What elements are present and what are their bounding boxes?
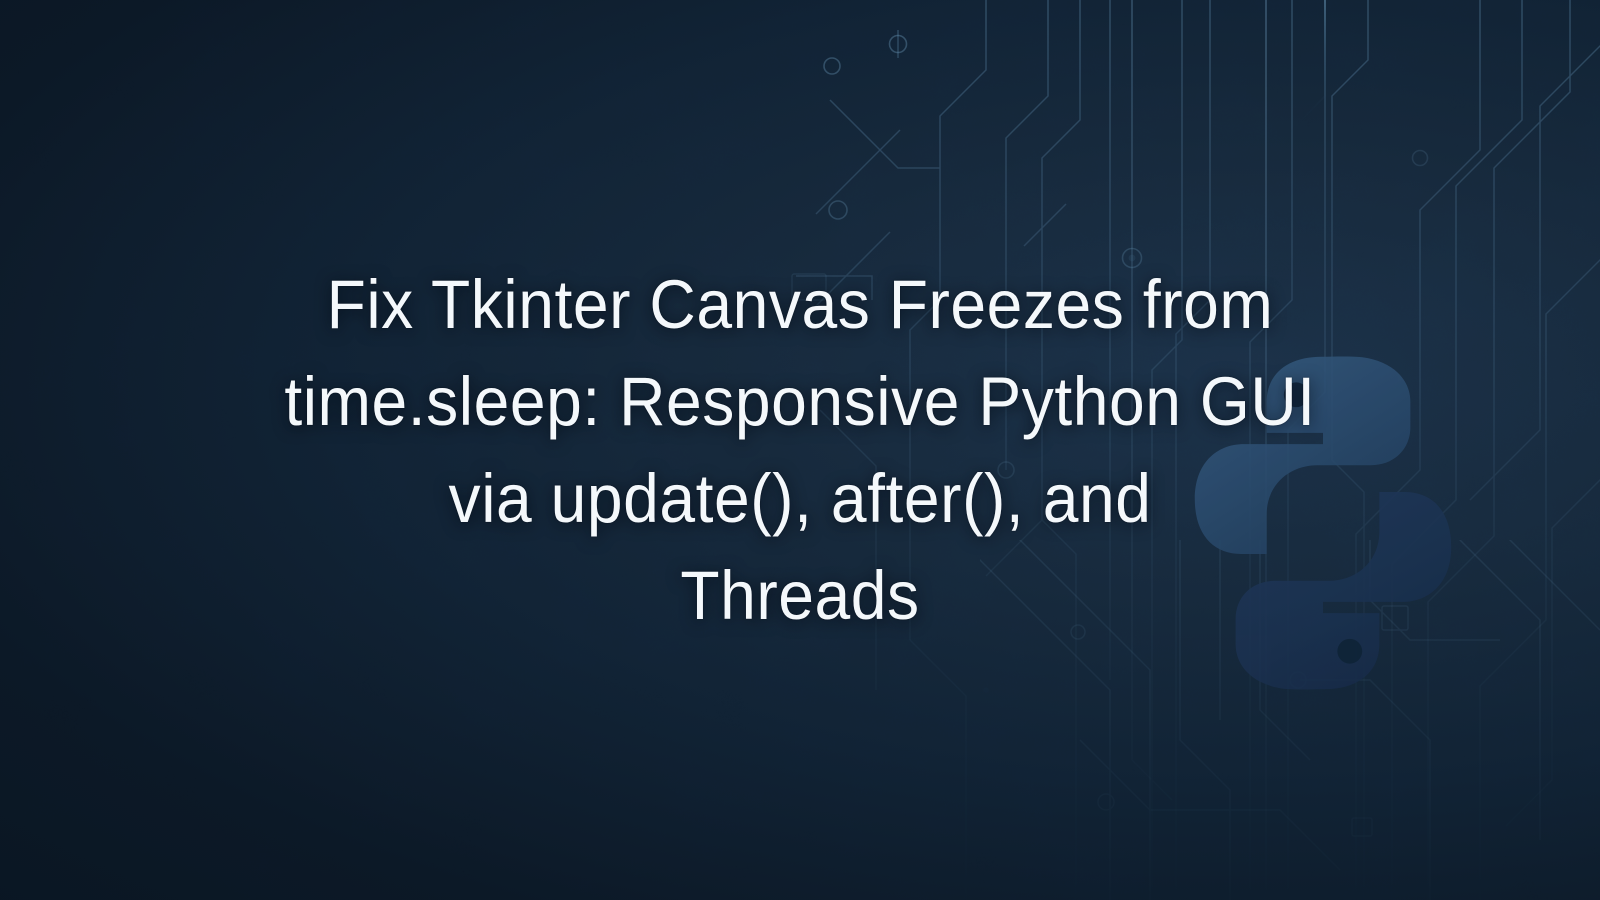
hero-banner: Fix Tkinter Canvas Freezes from time.sle… — [0, 0, 1600, 900]
page-title: Fix Tkinter Canvas Freezes from time.sle… — [251, 256, 1348, 644]
title-line-2: time.sleep: Responsive Python GUI — [251, 353, 1348, 450]
title-line-4: Threads — [251, 547, 1348, 644]
title-container: Fix Tkinter Canvas Freezes from time.sle… — [0, 0, 1600, 900]
title-line-1: Fix Tkinter Canvas Freezes from — [251, 256, 1348, 353]
title-line-3: via update(), after(), and — [251, 450, 1348, 547]
